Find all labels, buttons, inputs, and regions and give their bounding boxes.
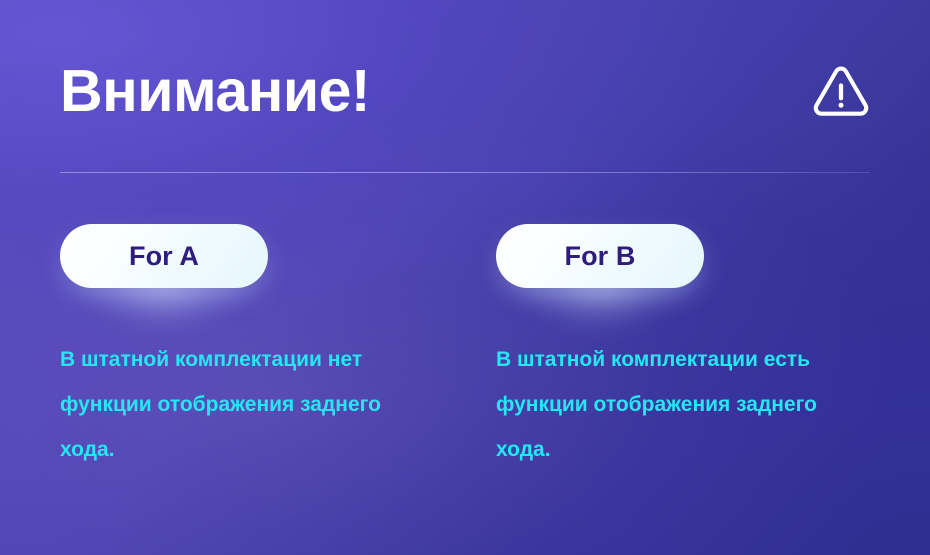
column-for-a: For A В штатной комплектации нет функции… xyxy=(60,224,496,472)
slide: Внимание! For A В штатной комплектации н… xyxy=(0,0,930,555)
pill-button-for-b[interactable]: For B xyxy=(496,224,704,288)
page-title: Внимание! xyxy=(60,52,370,130)
pill-wrapper-b: For B xyxy=(496,224,704,288)
pill-wrapper-a: For A xyxy=(60,224,268,288)
pill-label-for-b: For B xyxy=(565,241,636,272)
body-text-for-b: В штатной комплектации есть функции отоб… xyxy=(496,288,872,472)
comparison-columns: For A В штатной комплектации нет функции… xyxy=(60,224,872,472)
header: Внимание! xyxy=(60,52,870,144)
header-divider xyxy=(60,172,870,173)
warning-triangle-icon xyxy=(812,64,870,122)
body-text-for-a: В штатной комплектации нет функции отобр… xyxy=(60,288,440,472)
column-for-b: For B В штатной комплектации есть функци… xyxy=(496,224,872,472)
pill-button-for-a[interactable]: For A xyxy=(60,224,268,288)
pill-label-for-a: For A xyxy=(129,241,199,272)
